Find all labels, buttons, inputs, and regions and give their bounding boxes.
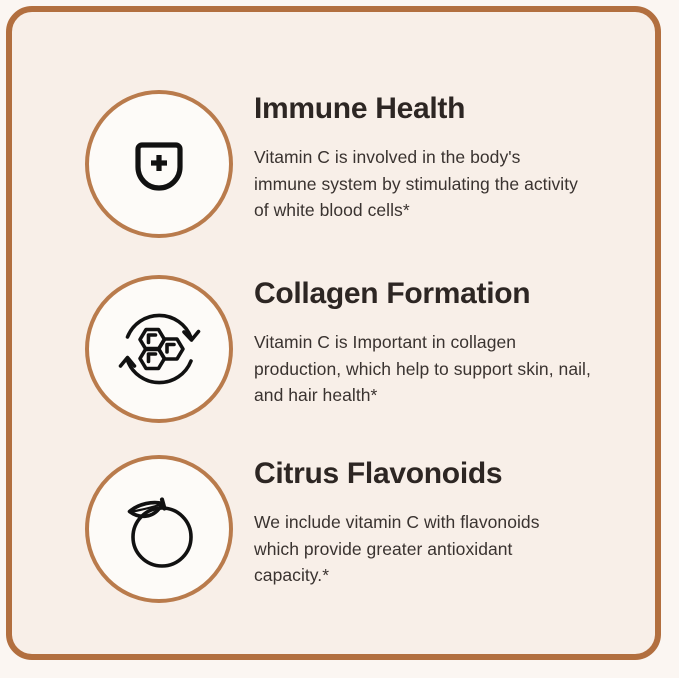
shield-plus-icon <box>85 90 233 238</box>
benefit-item-citrus-flavonoids: Citrus Flavonoids We include vitamin C w… <box>85 455 645 603</box>
benefit-description: We include vitamin C with flavonoids whi… <box>254 509 584 589</box>
benefit-title: Citrus Flavonoids <box>254 459 645 489</box>
benefit-text-citrus-flavonoids: Citrus Flavonoids We include vitamin C w… <box>233 455 645 589</box>
benefit-text-collagen-formation: Collagen Formation Vitamin C is Importan… <box>233 275 645 409</box>
collagen-cycle-hexagons-icon <box>85 275 233 423</box>
page-root: Immune Health Vitamin C is involved in t… <box>0 0 679 678</box>
benefit-description: Vitamin C is involved in the body's immu… <box>254 144 584 224</box>
benefit-title: Immune Health <box>254 94 645 124</box>
orange-citrus-icon <box>85 455 233 603</box>
benefit-title: Collagen Formation <box>254 279 645 309</box>
benefits-card: Immune Health Vitamin C is involved in t… <box>6 6 661 660</box>
benefit-list: Immune Health Vitamin C is involved in t… <box>12 12 655 654</box>
benefit-description: Vitamin C is Important in collagen produ… <box>254 329 606 409</box>
benefit-item-immune-health: Immune Health Vitamin C is involved in t… <box>85 90 645 238</box>
benefit-text-immune-health: Immune Health Vitamin C is involved in t… <box>233 90 645 224</box>
benefit-item-collagen-formation: Collagen Formation Vitamin C is Importan… <box>85 275 645 423</box>
